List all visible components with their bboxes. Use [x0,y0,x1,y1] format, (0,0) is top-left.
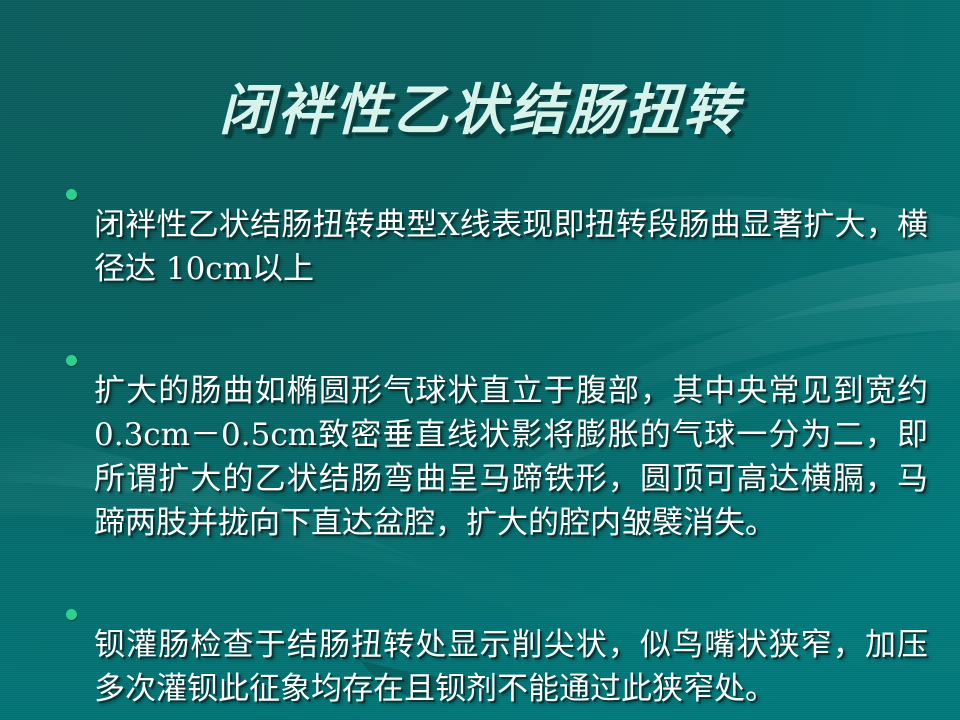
list-item: 闭袢性乙状结肠扭转典型X线表现即扭转段肠曲显著扩大，横径达 10cm以上 [48,172,928,322]
bullet-dot-icon [48,592,94,620]
bullet-dot-icon [48,338,94,366]
title-container: 闭袢性乙状结肠扭转 [0,44,960,175]
slide-title: 闭袢性乙状结肠扭转 [219,81,741,139]
bullet-text-1: 闭袢性乙状结肠扭转典型X线表现即扭转段肠曲显著扩大，横径达 10cm以上 [94,203,928,291]
bullet-list: 闭袢性乙状结肠扭转典型X线表现即扭转段肠曲显著扩大，横径达 10cm以上 扩大的… [48,172,928,720]
bullet-text-3: 钡灌肠检查于结肠扭转处显示削尖状，似鸟嘴状狭窄，加压多次灌钡此征象均存在且钡剂不… [94,623,928,711]
list-item: 钡灌肠检查于结肠扭转处显示削尖状，似鸟嘴状狭窄，加压多次灌钡此征象均存在且钡剂不… [48,592,928,720]
bullet-text-2: 扩大的肠曲如椭圆形气球状直立于腹部，其中央常见到宽约0.3cm－0.5cm致密垂… [94,369,928,545]
list-item: 扩大的肠曲如椭圆形气球状直立于腹部，其中央常见到宽约0.3cm－0.5cm致密垂… [48,338,928,576]
bullet-dot-icon [48,172,94,200]
slide-canvas: 闭袢性乙状结肠扭转 闭袢性乙状结肠扭转典型X线表现即扭转段肠曲显著扩大，横径达 … [0,0,960,720]
